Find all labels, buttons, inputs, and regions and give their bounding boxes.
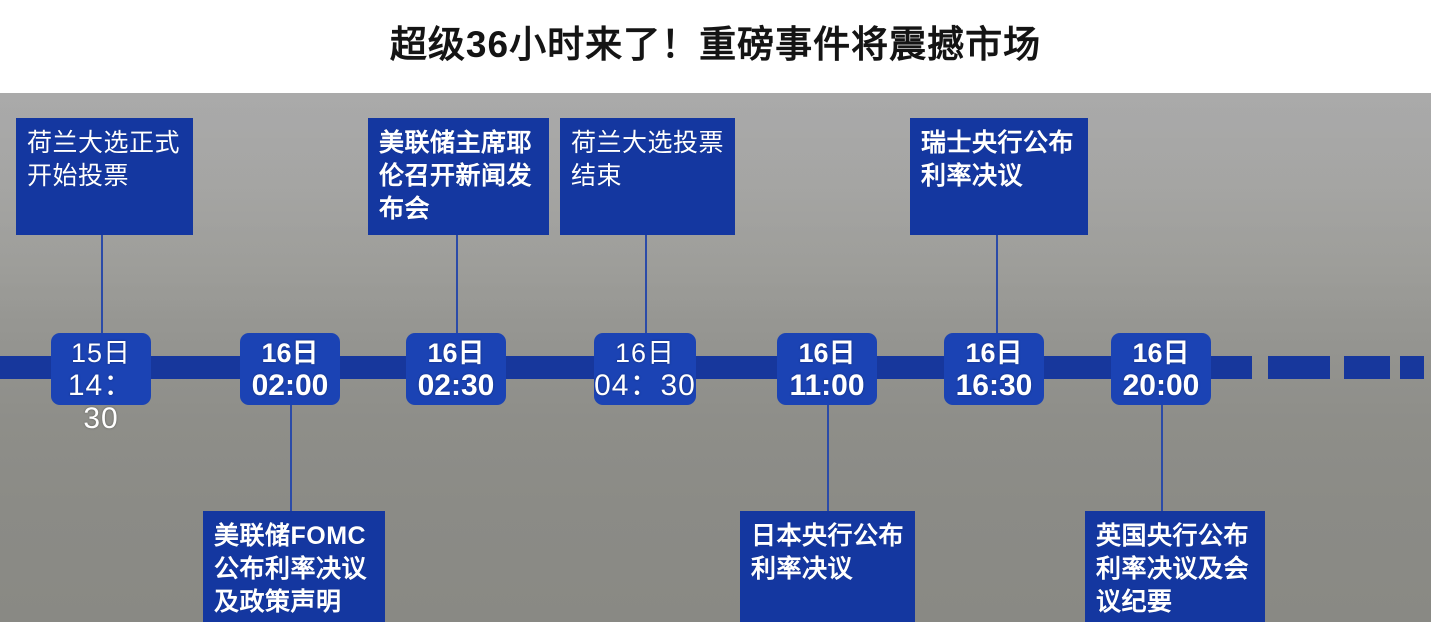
date-chip-5-date: 16日 [944,338,1044,369]
timeline-rail-dash-2 [1344,356,1390,379]
timeline-rail-dash-3 [1400,356,1424,379]
connector-stem-above-2 [645,235,647,341]
connector-stem-above-1 [456,235,458,341]
date-chip-3-time: 04：30 [594,369,696,403]
date-chip-3-date: 16日 [594,338,696,369]
date-chip-0-date: 15日 [51,338,151,369]
date-chip-1-time: 02:00 [240,369,340,403]
connector-stem-below-1 [827,405,829,511]
header-band: 超级36小时来了！重磅事件将震撼市场 [0,0,1431,93]
event-card-below-2[interactable]: 英国央行公布利率决议及会议纪要 [1085,511,1265,622]
date-chip-2-time: 02:30 [406,369,506,403]
event-card-above-2[interactable]: 荷兰大选投票结束 [560,118,735,235]
date-chip-6-date: 16日 [1111,338,1211,369]
page-title: 超级36小时来了！重磅事件将震撼市场 [0,14,1431,68]
connector-stem-above-3 [996,235,998,341]
event-card-below-1[interactable]: 日本央行公布利率决议 [740,511,915,622]
date-chip-2-date: 16日 [406,338,506,369]
event-card-above-1[interactable]: 美联储主席耶伦召开新闻发布会 [368,118,549,235]
event-card-below-0[interactable]: 美联储FOMC公布利率决议及政策声明 [203,511,385,622]
event-card-above-0[interactable]: 荷兰大选正式开始投票 [16,118,193,235]
date-chip-2[interactable]: 16日 02:30 [406,333,506,405]
date-chip-4[interactable]: 16日 11:00 [777,333,877,405]
connector-stem-below-2 [1161,405,1163,511]
date-chip-4-date: 16日 [777,338,877,369]
date-chip-4-time: 11:00 [777,369,877,403]
date-chip-0[interactable]: 15日 14：30 [51,333,151,405]
date-chip-5[interactable]: 16日 16:30 [944,333,1044,405]
date-chip-1-date: 16日 [240,338,340,369]
timeline-canvas: 荷兰大选正式开始投票 美联储主席耶伦召开新闻发布会 荷兰大选投票结束 瑞士央行公… [0,93,1431,622]
connector-stem-below-0 [290,405,292,511]
date-chip-6-time: 20:00 [1111,369,1211,403]
date-chip-0-time: 14：30 [51,369,151,437]
timeline-rail-dash-1 [1268,356,1330,379]
event-card-above-3[interactable]: 瑞士央行公布利率决议 [910,118,1088,235]
connector-stem-above-0 [101,235,103,341]
date-chip-1[interactable]: 16日 02:00 [240,333,340,405]
date-chip-6[interactable]: 16日 20:00 [1111,333,1211,405]
date-chip-5-time: 16:30 [944,369,1044,403]
infographic-root: 超级36小时来了！重磅事件将震撼市场 荷兰大选正式开始投票 美联储主席耶伦召开新… [0,0,1431,622]
date-chip-3[interactable]: 16日 04：30 [594,333,696,405]
